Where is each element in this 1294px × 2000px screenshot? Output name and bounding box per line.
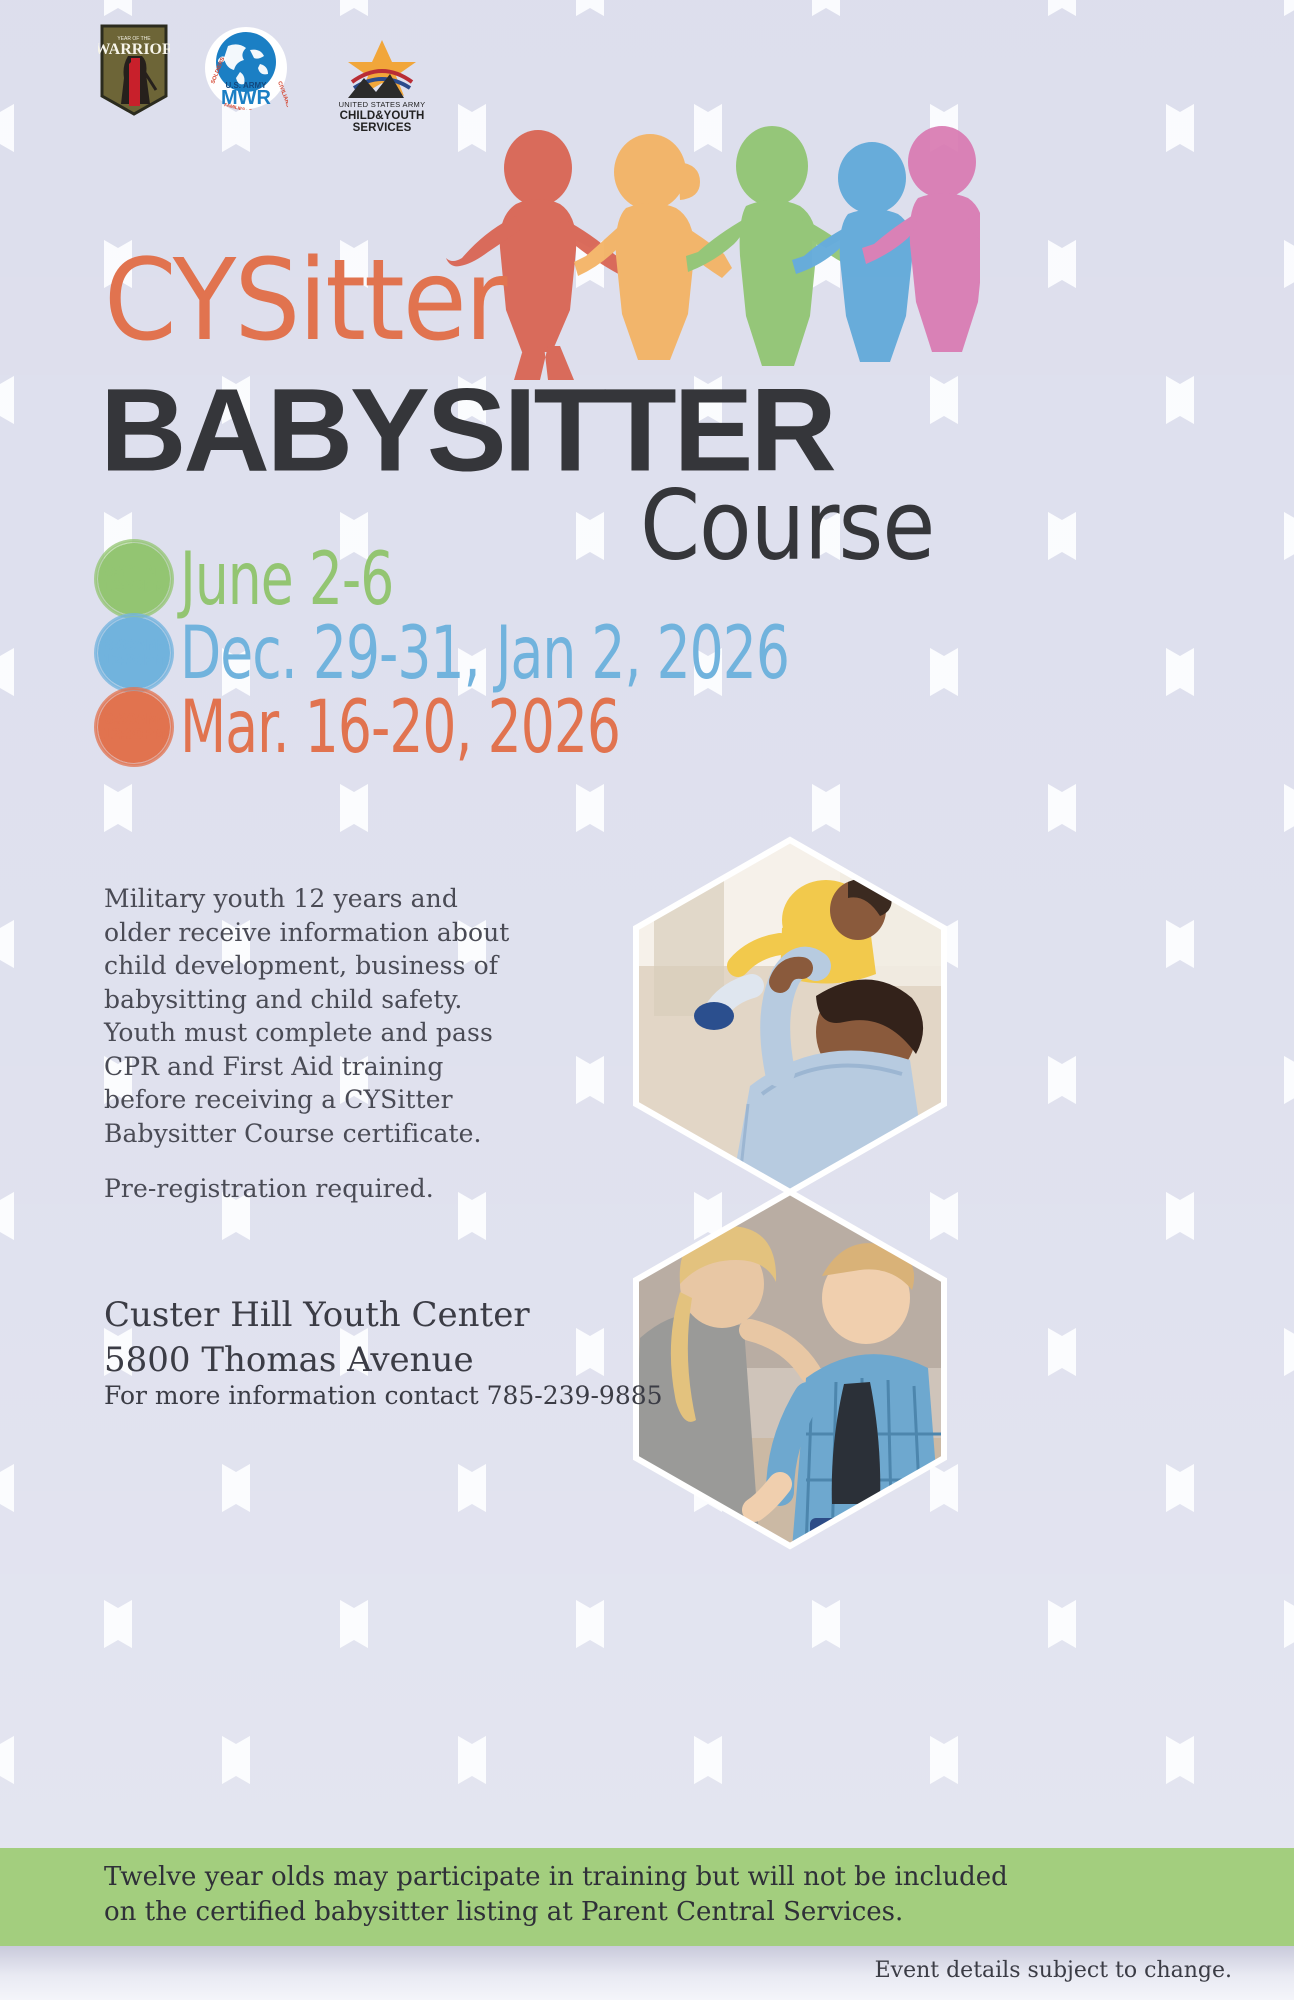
session-row: 8:30AM- 12:30PM June 2-6 bbox=[100, 548, 814, 610]
time-badge-line2: 12:30PM bbox=[103, 653, 166, 668]
description-line: older receive information about bbox=[104, 916, 534, 950]
footer-banner: Twelve year olds may participate in trai… bbox=[0, 1848, 1294, 1946]
session-row: 8:30AM- 12:30PM Mar. 16-20, 2026 bbox=[100, 696, 814, 758]
description-line: Military youth 12 years and bbox=[104, 882, 534, 916]
cysitter-babysitter-course-poster: YEAR OF THE WARRIOR U.S. ARMY MWR SOLDIE… bbox=[0, 0, 1294, 2000]
session-date-label: Mar. 16-20, 2026 bbox=[180, 690, 620, 763]
description-line: Youth must complete and pass bbox=[104, 1016, 534, 1050]
footer-banner-text: Twelve year olds may participate in trai… bbox=[0, 1848, 1294, 1929]
description-line: child development, business of bbox=[104, 949, 534, 983]
description-line: CPR and First Aid training bbox=[104, 1050, 534, 1084]
logo-row: YEAR OF THE WARRIOR U.S. ARMY MWR SOLDIE… bbox=[98, 22, 442, 138]
contact-line: For more information contact 785-239-988… bbox=[104, 1381, 663, 1410]
session-date-label: June 2-6 bbox=[180, 542, 393, 615]
venue-block: Custer Hill Youth Center 5800 Thomas Ave… bbox=[104, 1293, 530, 1383]
footer-banner-line2: on the certified babysitter listing at P… bbox=[104, 1895, 1294, 1930]
venue-name: Custer Hill Youth Center bbox=[104, 1293, 530, 1338]
venue-address: 5800 Thomas Avenue bbox=[104, 1338, 530, 1383]
army-child-youth-services-logo: UNITED STATES ARMY CHILD&YOUTH SERVICES bbox=[322, 38, 442, 138]
time-badge: 8:30AM- 12:30PM bbox=[98, 617, 170, 689]
session-row: 8:30AM- 12:30PM Dec. 29-31, Jan 2, 2026 bbox=[100, 622, 814, 684]
description-text: Military youth 12 years and older receiv… bbox=[104, 882, 534, 1206]
description-line: before receiving a CYSitter bbox=[104, 1083, 534, 1117]
session-dates-list: 8:30AM- 12:30PM June 2-6 8:30AM- 12:30PM… bbox=[100, 548, 814, 770]
cys-logo-line1: UNITED STATES ARMY bbox=[322, 100, 442, 109]
footer-note: Event details subject to change. bbox=[875, 1958, 1232, 1983]
photo-teen-with-child-playing bbox=[630, 1188, 950, 1550]
pre-registration-note: Pre-registration required. bbox=[104, 1172, 534, 1206]
description-line: babysitting and child safety. bbox=[104, 983, 534, 1017]
page-title-script: CYSitter bbox=[104, 244, 506, 356]
session-date-label: Dec. 29-31, Jan 2, 2026 bbox=[180, 616, 789, 689]
time-badge-line2: 12:30PM bbox=[103, 579, 166, 594]
warrior-word: WARRIOR bbox=[98, 41, 170, 58]
time-badge-line2: 12:30PM bbox=[103, 727, 166, 742]
description-line: Babysitter Course certificate. bbox=[104, 1117, 534, 1151]
footer-banner-line1: Twelve year olds may participate in trai… bbox=[104, 1860, 1294, 1895]
us-army-mwr-logo: U.S. ARMY MWR SOLDIERS CIVILIANS FAMILIE… bbox=[204, 26, 288, 110]
time-badge: 8:30AM- 12:30PM bbox=[98, 543, 170, 615]
time-badge: 8:30AM- 12:30PM bbox=[98, 691, 170, 763]
cys-logo-line2: CHILD&YOUTH SERVICES bbox=[322, 110, 442, 134]
photo-caregiver-lifting-baby bbox=[630, 836, 950, 1196]
mwr-arc-civilians: CIVILIANS bbox=[276, 81, 288, 109]
warrior-patch-logo: YEAR OF THE WARRIOR bbox=[98, 22, 170, 118]
